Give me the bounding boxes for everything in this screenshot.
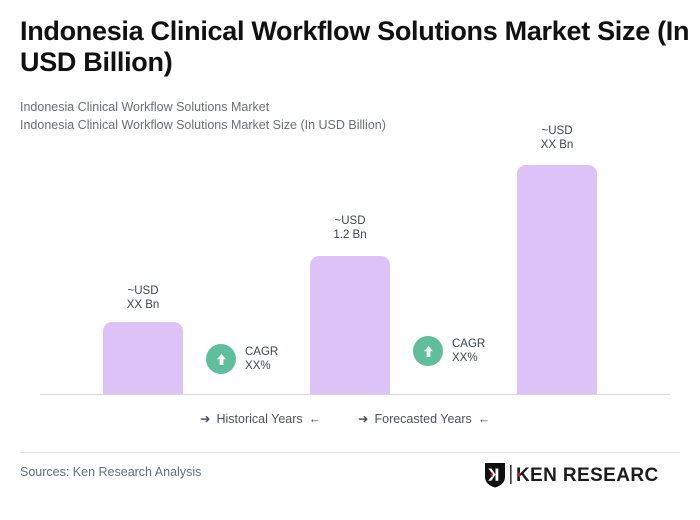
year-range-forecasted-label: Forecasted Years: [374, 412, 471, 426]
bar-value-label-3: ~USD XX Bn: [517, 124, 597, 152]
cagr-label-1: CAGR XX%: [245, 345, 278, 373]
axis-baseline: [40, 394, 670, 395]
arrow-right-icon: ➜: [358, 412, 368, 426]
market-size-chart-page: Indonesia Clinical Workflow Solutions Ma…: [0, 0, 700, 520]
bar-forecasted: [517, 165, 597, 394]
ken-research-wordmark: K EN RESEARCH: [510, 462, 658, 488]
bar-base: [310, 256, 390, 394]
ken-research-logo: K EN RESEARCH: [484, 462, 659, 488]
year-range-historical-label: Historical Years: [216, 412, 302, 426]
cagr-badge-1: CAGR XX%: [206, 344, 278, 374]
arrow-up-icon: [206, 344, 236, 374]
bar-value-label-1: ~USD XX Bn: [103, 284, 183, 312]
arrow-right-icon: ➜: [200, 412, 210, 426]
cagr-badge-2: CAGR XX%: [413, 336, 485, 366]
ken-research-shield-icon: [484, 462, 506, 488]
bar-historical: [103, 322, 183, 394]
year-range-forecasted: ➜Forecasted Years←: [358, 409, 490, 429]
sources-text: Sources: Ken Research Analysis: [20, 465, 201, 479]
year-range-historical: ➜Historical Years←: [200, 409, 321, 429]
bar-value-label-2: ~USD 1.2 Bn: [310, 214, 390, 242]
arrow-left-icon: ←: [478, 412, 491, 426]
bar-chart: ~USD XX Bn CAGR XX% ~USD 1.2 Bn CAGR XX%: [0, 0, 700, 440]
year-range-legend: ➜Historical Years← ➜Forecasted Years←: [0, 409, 700, 429]
arrow-up-icon: [413, 336, 443, 366]
footer-divider: [20, 452, 680, 453]
arrow-left-icon: ←: [309, 412, 322, 426]
cagr-label-2: CAGR XX%: [452, 337, 485, 365]
svg-text:EN RESEARCH: EN RESEARCH: [530, 465, 658, 486]
